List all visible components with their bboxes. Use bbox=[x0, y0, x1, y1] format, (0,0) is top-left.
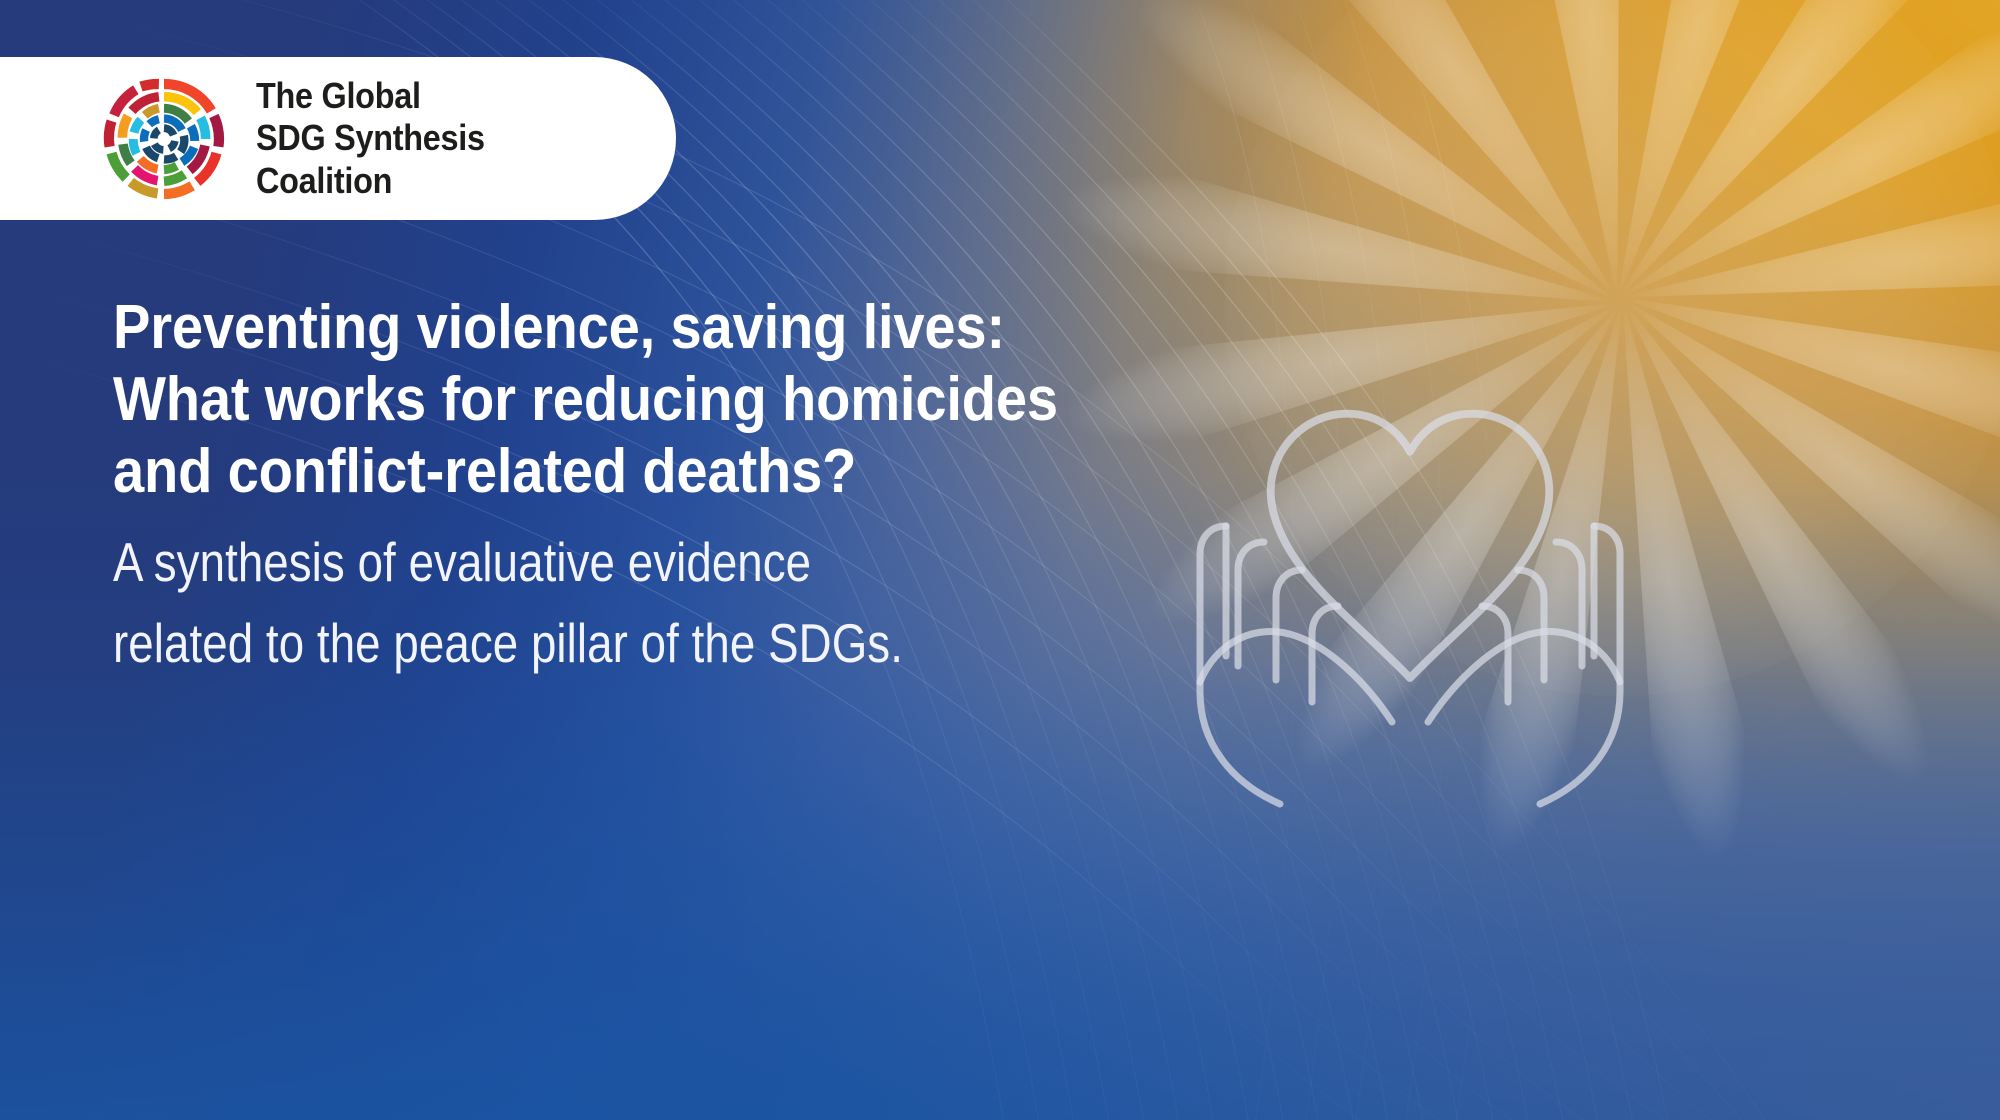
copy-block: Preventing violence, saving lives: What … bbox=[113, 292, 1133, 684]
sdg-spiral-logo bbox=[100, 75, 228, 203]
brand-line-1: The Global bbox=[256, 75, 485, 117]
brand-badge: The Global SDG Synthesis Coalition bbox=[0, 57, 676, 220]
subhead-line-2: related to the peace pillar of the SDGs. bbox=[113, 603, 960, 684]
headline-line-3: and conflict-related deaths? bbox=[113, 436, 1036, 508]
subhead-line-1: A synthesis of evaluative evidence bbox=[113, 522, 960, 603]
brand-line-2: SDG Synthesis bbox=[256, 117, 485, 159]
page-subtitle: A synthesis of evaluative evidence relat… bbox=[113, 522, 960, 684]
promo-banner: The Global SDG Synthesis Coalition Preve… bbox=[0, 0, 2000, 1120]
page-title: Preventing violence, saving lives: What … bbox=[113, 292, 1036, 508]
brand-line-3: Coalition bbox=[256, 160, 485, 202]
brand-badge-text: The Global SDG Synthesis Coalition bbox=[256, 75, 485, 202]
headline-line-2: What works for reducing homicides bbox=[113, 364, 1036, 436]
headline-line-1: Preventing violence, saving lives: bbox=[113, 292, 1036, 364]
